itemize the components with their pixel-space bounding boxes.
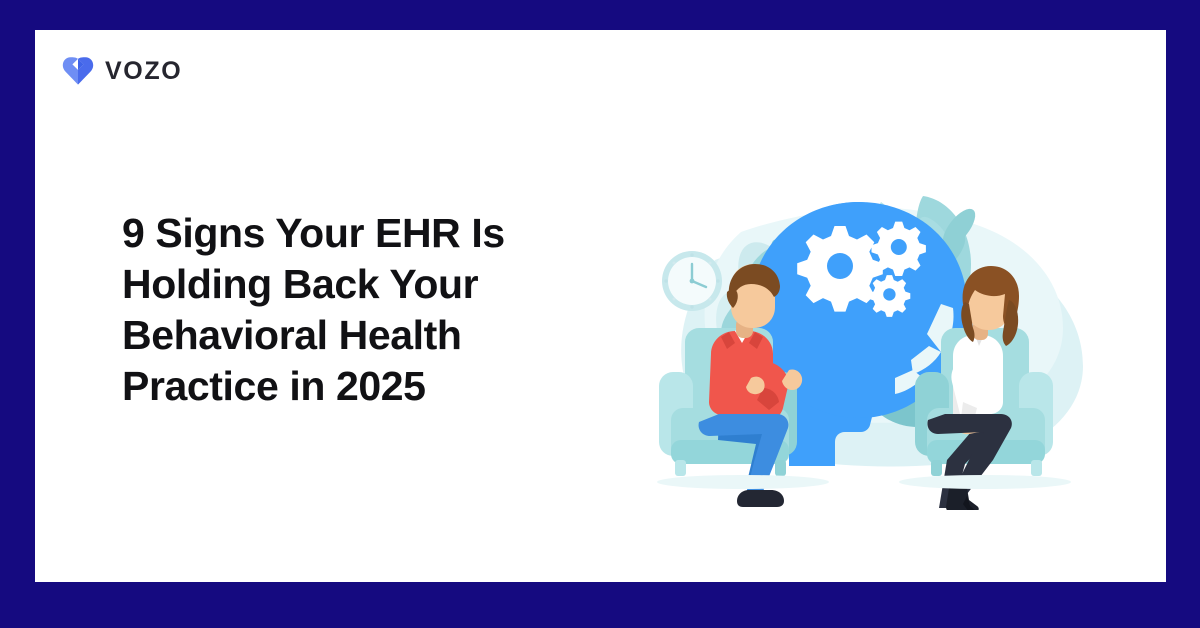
- gear-small: [869, 275, 911, 317]
- banner-root: VOZO 9 Signs Your EHR Is Holding Back Yo…: [0, 0, 1200, 628]
- gear-medium: [872, 222, 926, 276]
- therapy-session-illustration: [623, 140, 1083, 510]
- brand-name: VOZO: [105, 59, 182, 84]
- floor-shadow: [657, 475, 1071, 489]
- content-card: VOZO 9 Signs Your EHR Is Holding Back Yo…: [35, 30, 1166, 582]
- heart-icon: [62, 56, 94, 86]
- wall-clock: [662, 251, 722, 311]
- brand-logo[interactable]: VOZO: [62, 56, 182, 86]
- page-title: 9 Signs Your EHR Is Holding Back Your Be…: [122, 208, 592, 412]
